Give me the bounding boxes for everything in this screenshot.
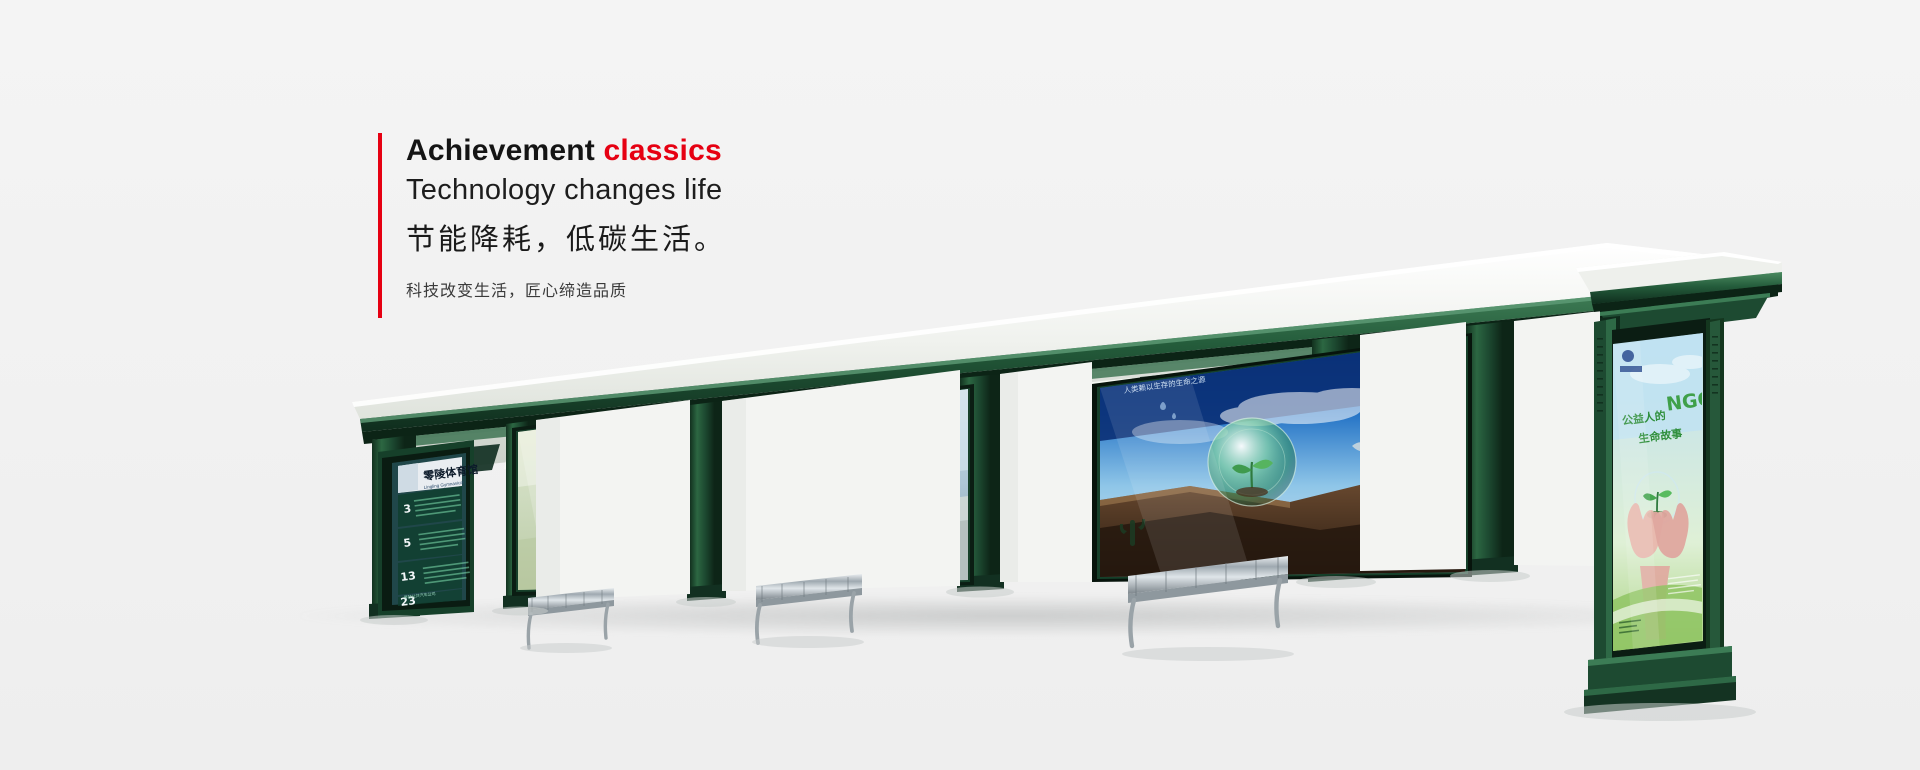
- bench-1: [520, 588, 614, 653]
- banner-stage: Achievement classics Technology changes …: [0, 0, 1920, 770]
- route-number: 13: [400, 569, 417, 584]
- column-b: [687, 401, 726, 601]
- totem-lightbox: 公益人的 NGO 生命故事: [1576, 252, 1782, 714]
- bus-shelter-render: 零陵体育馆 Lingling Gymnasium 3 5 13 23: [0, 0, 1920, 770]
- bench-2: [752, 574, 864, 648]
- route-board: 零陵体育馆 Lingling Gymnasium 3 5 13 23: [378, 440, 479, 618]
